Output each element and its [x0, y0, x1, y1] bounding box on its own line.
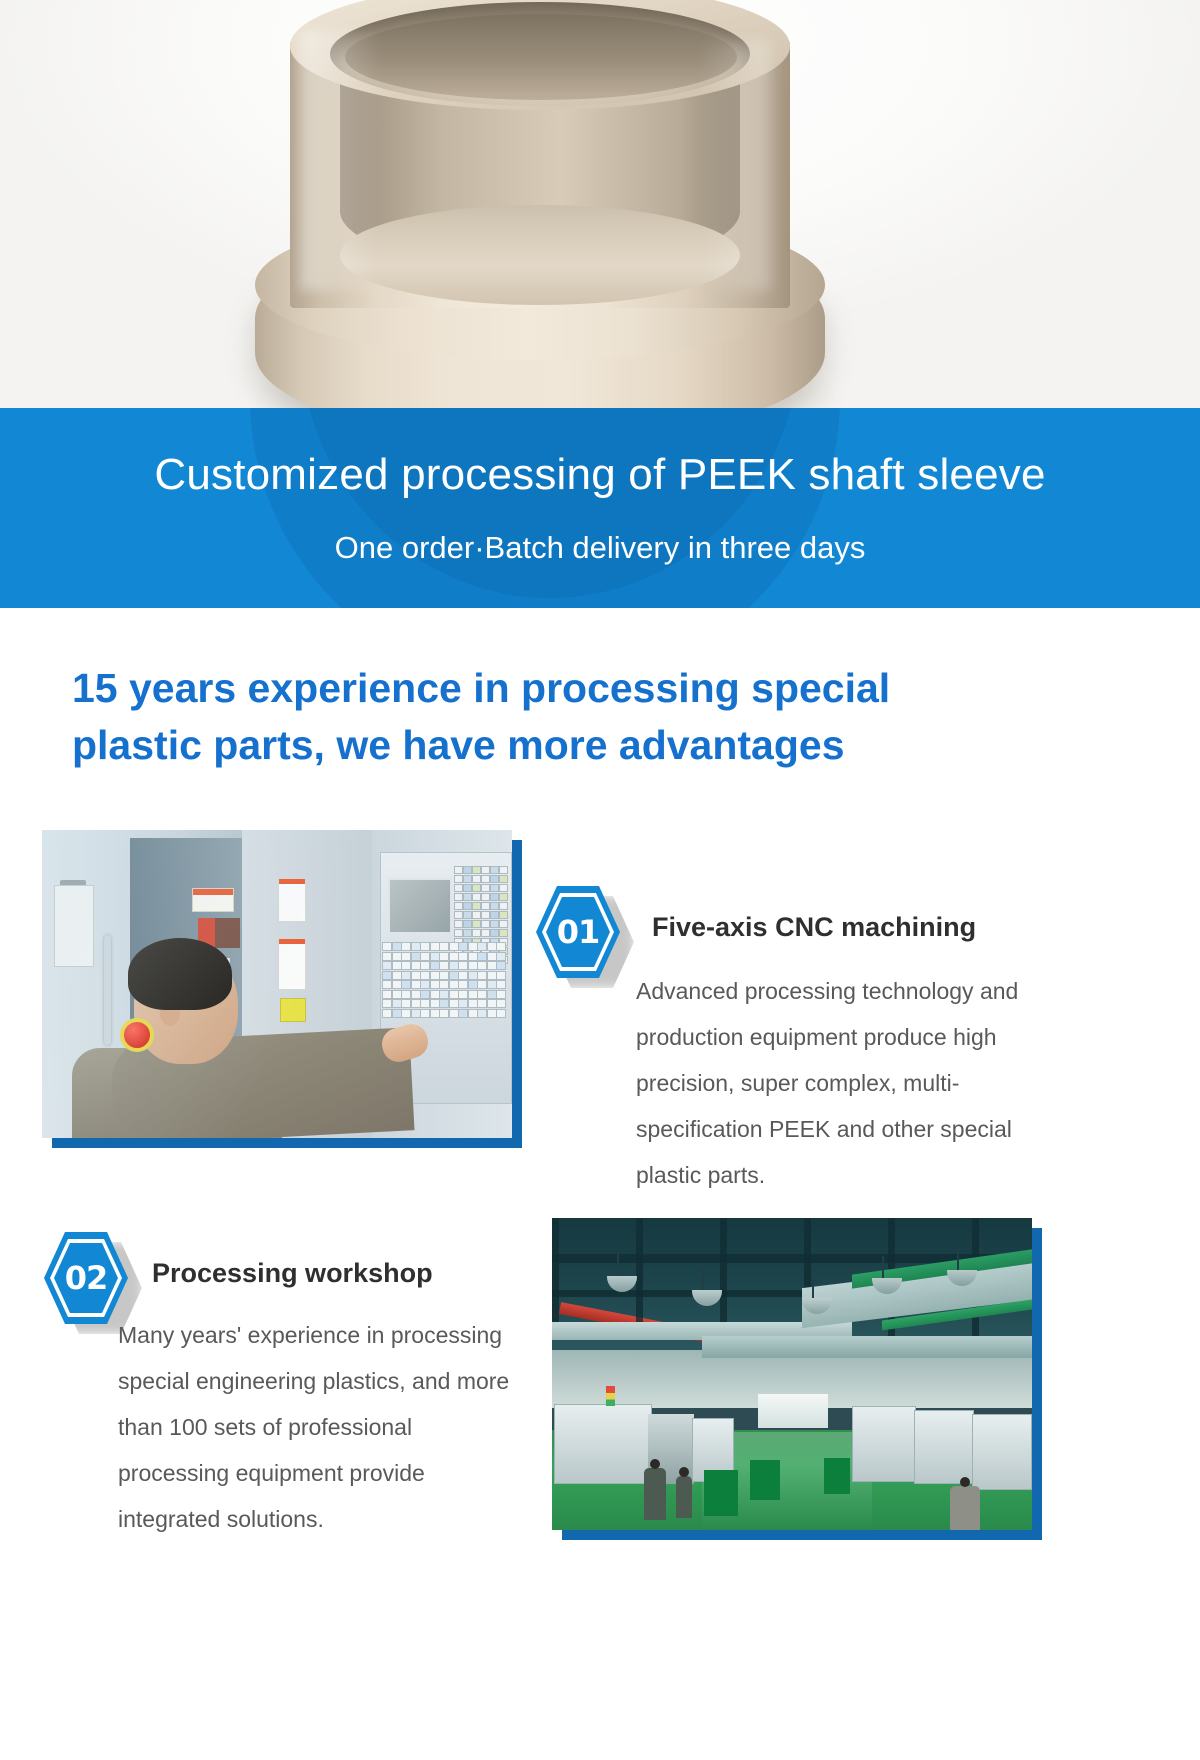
banner-title: Customized processing of PEEK shaft slee… — [0, 450, 1200, 500]
section-heading-line-2: plastic parts, we have more advantages — [72, 717, 1072, 774]
feature-01-title: Five-axis CNC machining — [652, 912, 976, 943]
feature-01-badge: 01 — [536, 886, 620, 978]
feature-02-photo — [552, 1218, 1032, 1530]
banner-subtitle: One order·Batch delivery in three days — [0, 530, 1200, 566]
photo-frame-bar-right — [1032, 1228, 1042, 1540]
feature-02-body: Many years' experience in processing spe… — [118, 1312, 528, 1542]
feature-01-photo — [42, 830, 512, 1138]
product-highlight-right — [700, 40, 770, 290]
photo-frame-bar-right — [512, 840, 522, 1148]
product-bore — [345, 14, 737, 100]
feature-02-badge: 02 — [44, 1232, 128, 1324]
hero-banner: Customized processing of PEEK shaft slee… — [0, 408, 1200, 608]
hero-product-image — [0, 0, 1200, 420]
feature-02-title: Processing workshop — [152, 1258, 433, 1289]
feature-02-number: 02 — [65, 1262, 108, 1294]
photo-frame-bar-bottom — [562, 1530, 1042, 1540]
section-heading: 15 years experience in processing specia… — [72, 660, 1072, 773]
photo-frame-bar-bottom — [52, 1138, 522, 1148]
product-inner-bottom — [340, 205, 740, 305]
feature-01-number: 01 — [557, 916, 600, 948]
feature-02-photo-frame — [552, 1218, 1042, 1540]
section-heading-line-1: 15 years experience in processing specia… — [72, 660, 1072, 717]
photo-color-cast — [552, 1218, 1032, 1530]
feature-01-photo-frame — [42, 830, 522, 1148]
product-highlight-left — [300, 30, 380, 290]
photo-color-cast — [42, 830, 512, 1138]
feature-01-body: Advanced processing technology and produ… — [636, 968, 1076, 1198]
